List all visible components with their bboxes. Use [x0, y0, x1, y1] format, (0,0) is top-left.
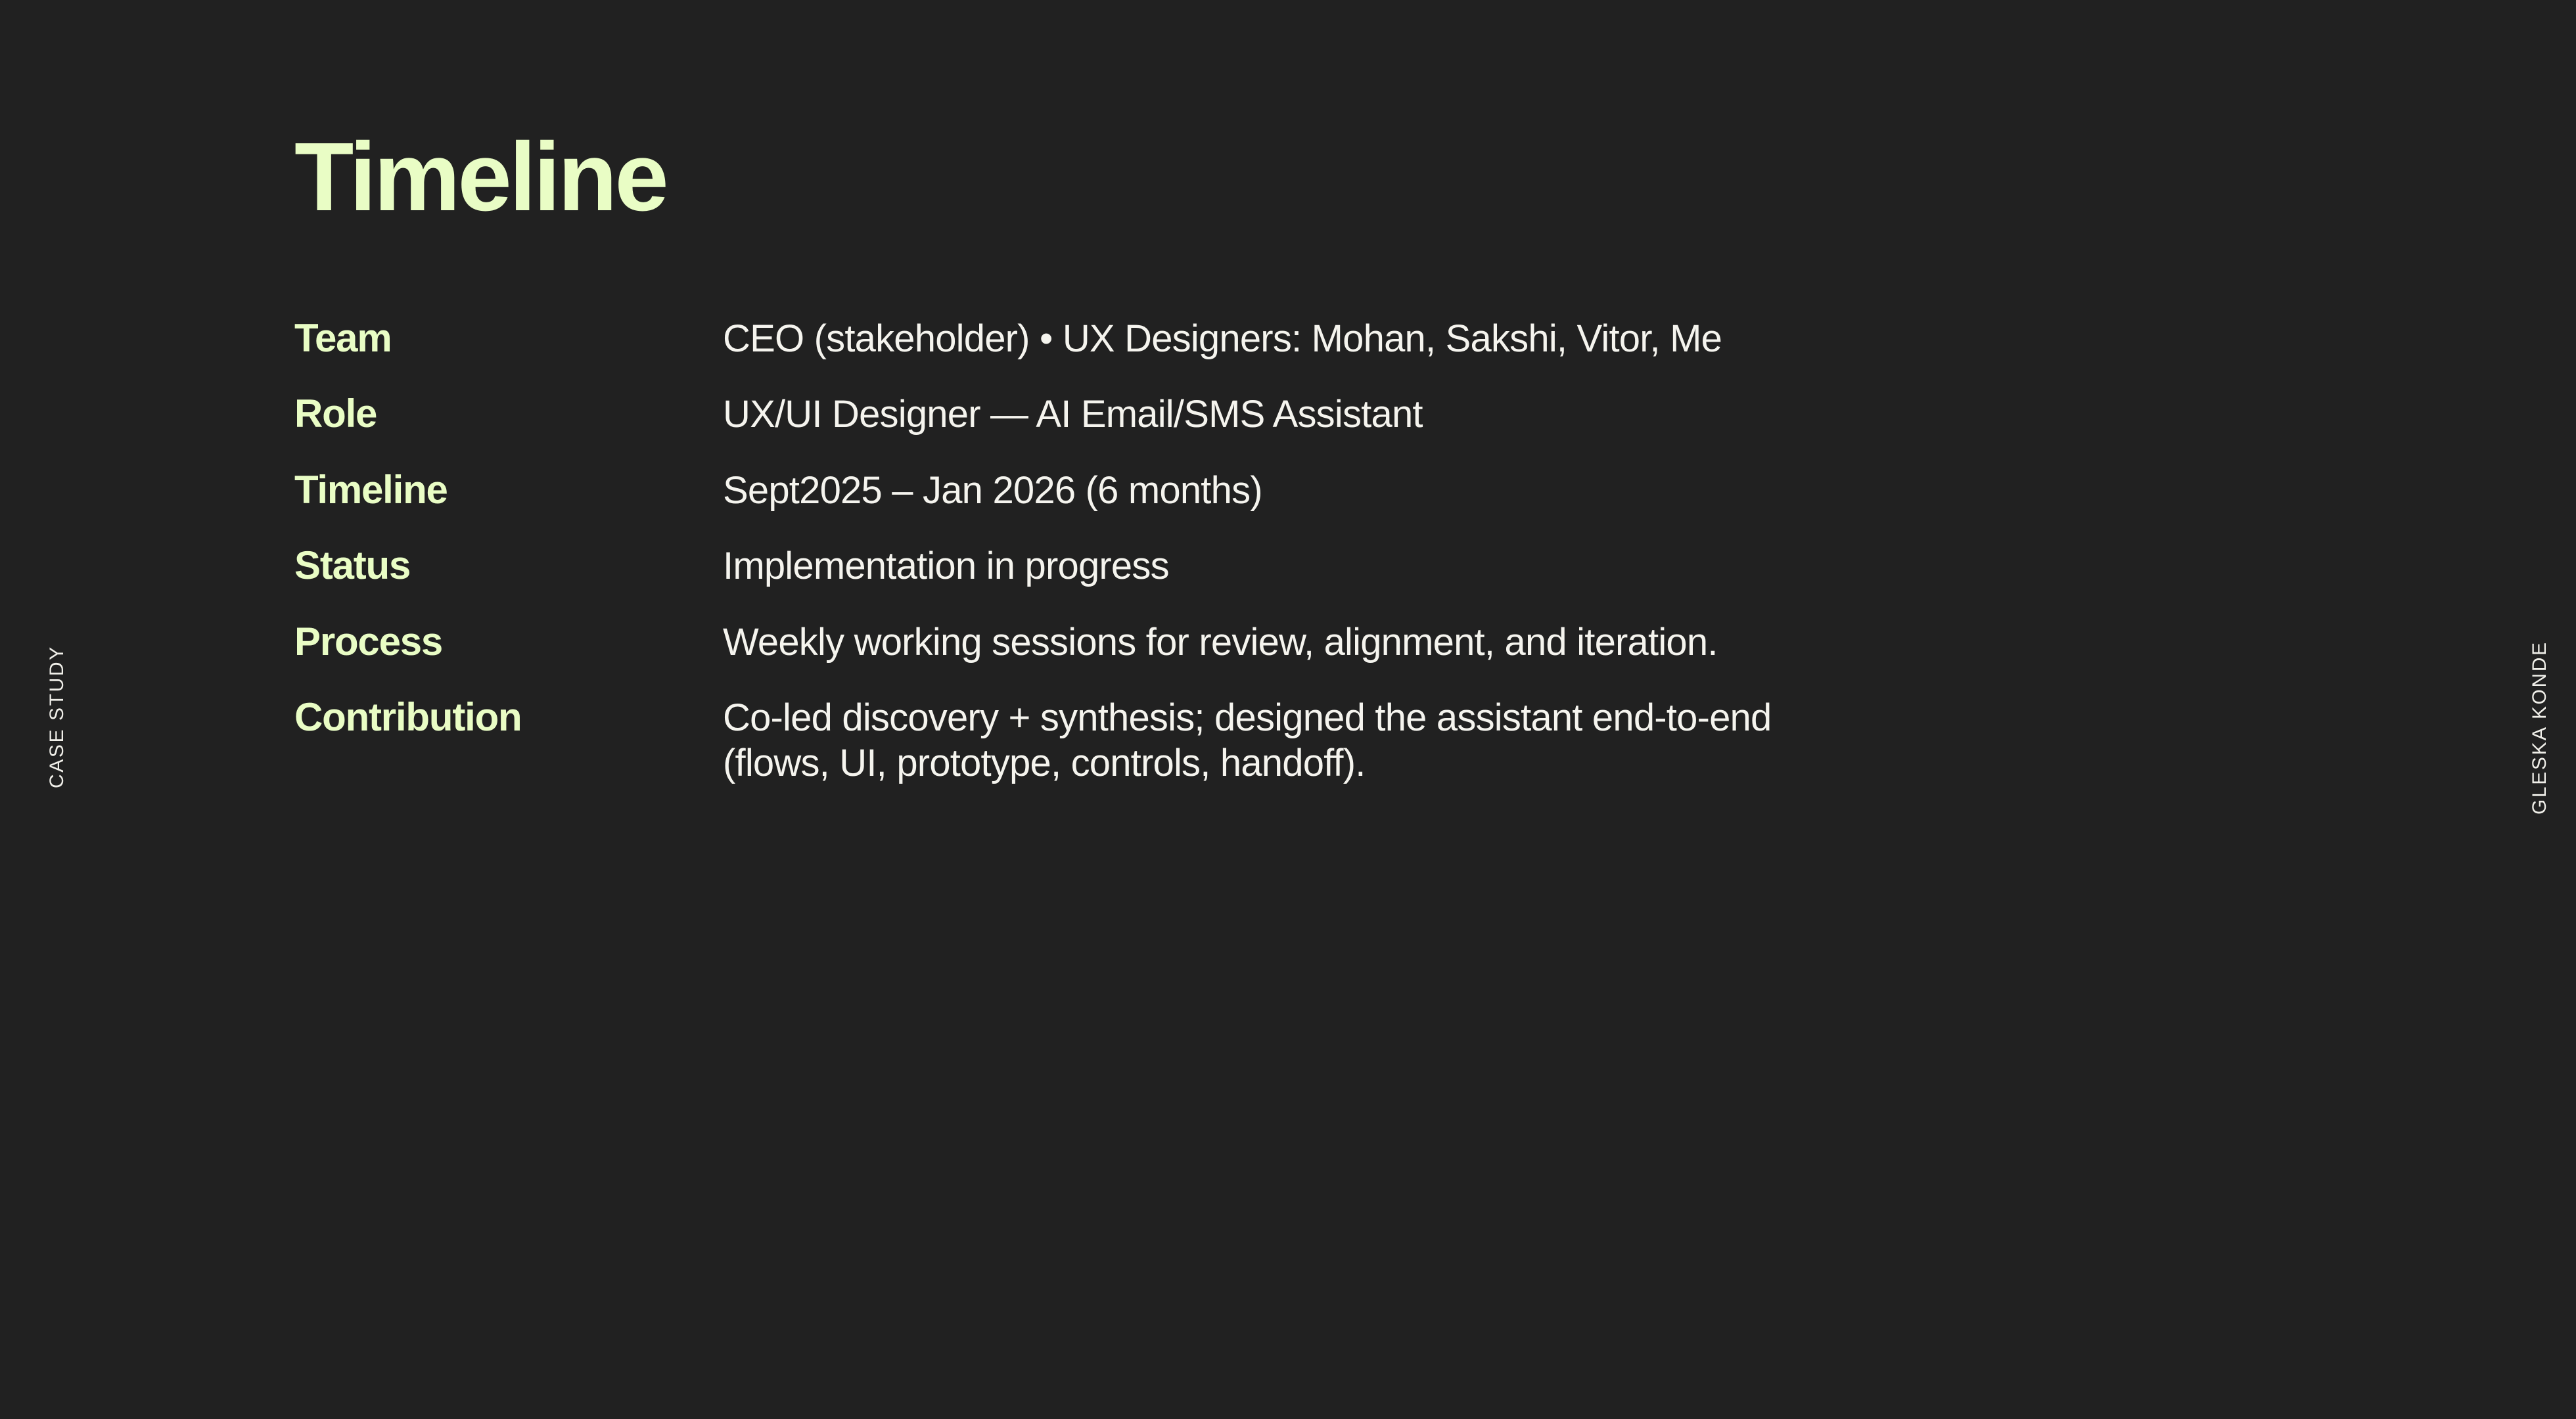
- spec-list: Team CEO (stakeholder) • UX Designers: M…: [294, 315, 2266, 815]
- spec-value-status: Implementation in progress: [723, 543, 2266, 589]
- spec-row-team: Team CEO (stakeholder) • UX Designers: M…: [294, 315, 2266, 361]
- spec-value-process: Weekly working sessions for review, alig…: [723, 619, 2266, 665]
- spec-value-line: (flows, UI, prototype, controls, handoff…: [723, 741, 2266, 786]
- spec-label-timeline: Timeline: [294, 467, 723, 512]
- spec-label-status: Status: [294, 543, 723, 588]
- slide-canvas: Timeline Team CEO (stakeholder) • UX Des…: [0, 0, 2576, 1419]
- spec-label-role: Role: [294, 391, 723, 436]
- spec-label-process: Process: [294, 619, 723, 664]
- spec-value-line: Implementation in progress: [723, 544, 2266, 589]
- spec-label-contribution: Contribution: [294, 694, 723, 740]
- side-label-author: GLESKA KONDE: [2529, 641, 2551, 815]
- page-title: Timeline: [294, 129, 666, 226]
- spec-value-line: CEO (stakeholder) • UX Designers: Mohan,…: [723, 317, 2266, 361]
- spec-label-team: Team: [294, 315, 723, 361]
- spec-row-status: Status Implementation in progress: [294, 543, 2266, 589]
- spec-value-role: UX/UI Designer — AI Email/SMS Assistant: [723, 391, 2266, 437]
- spec-row-contribution: Contribution Co-led discovery + synthesi…: [294, 694, 2266, 786]
- spec-value-line: Co-led discovery + synthesis; designed t…: [723, 696, 2266, 740]
- spec-value-team: CEO (stakeholder) • UX Designers: Mohan,…: [723, 315, 2266, 361]
- spec-value-line: Weekly working sessions for review, alig…: [723, 620, 2266, 665]
- spec-row-timeline: Timeline Sept2025 – Jan 2026 (6 months): [294, 467, 2266, 513]
- side-label-case-study: CASE STUDY: [46, 645, 68, 788]
- spec-row-process: Process Weekly working sessions for revi…: [294, 619, 2266, 665]
- spec-row-role: Role UX/UI Designer — AI Email/SMS Assis…: [294, 391, 2266, 437]
- spec-value-line: UX/UI Designer — AI Email/SMS Assistant: [723, 392, 2266, 437]
- spec-value-line: Sept2025 – Jan 2026 (6 months): [723, 468, 2266, 513]
- spec-value-contribution: Co-led discovery + synthesis; designed t…: [723, 694, 2266, 786]
- spec-value-timeline: Sept2025 – Jan 2026 (6 months): [723, 467, 2266, 513]
